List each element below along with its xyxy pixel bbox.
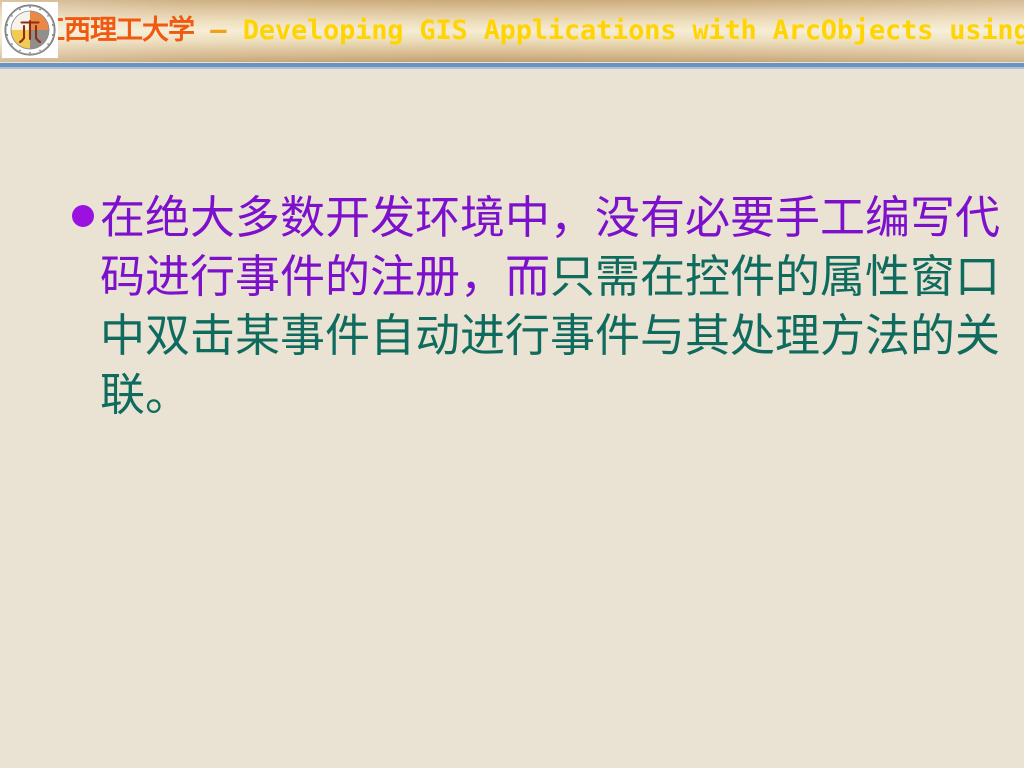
slide-canvas: 江西理工大学 – Developing GIS Applications wit…	[0, 0, 1024, 768]
header-course-title: Developing GIS Applications with ArcObje…	[243, 15, 1024, 46]
bullet-list-item: 在绝大多数开发环境中，没有必要手工编写代码进行事件的注册，而只需在控件的属性窗口…	[72, 188, 1002, 424]
slide-content: 在绝大多数开发环境中，没有必要手工编写代码进行事件的注册，而只需在控件的属性窗口…	[0, 80, 1024, 768]
bullet-paragraph: 在绝大多数开发环境中，没有必要手工编写代码进行事件的注册，而只需在控件的属性窗口…	[100, 188, 1002, 424]
university-logo-icon	[2, 2, 58, 58]
header-banner: 江西理工大学 – Developing GIS Applications wit…	[0, 0, 1024, 62]
header-separator: –	[194, 15, 243, 46]
header-title: 江西理工大学 – Developing GIS Applications wit…	[38, 0, 1024, 62]
header-divider-rule-secondary	[0, 67, 1024, 69]
bullet-dot-icon	[72, 205, 94, 227]
header-institution-name: 江西理工大学	[38, 15, 194, 46]
